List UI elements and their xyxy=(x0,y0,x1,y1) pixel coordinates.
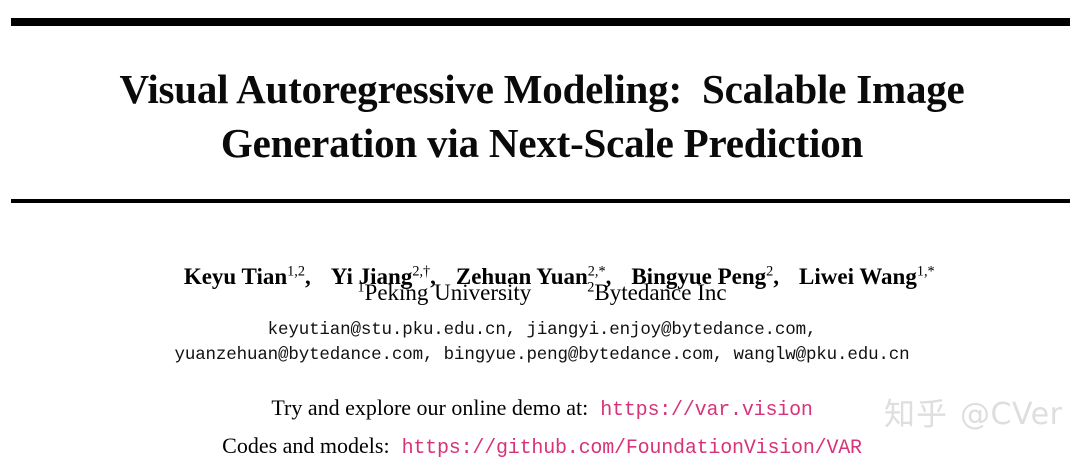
title-line-2: Generation via Next-Scale Prediction xyxy=(0,116,1084,170)
top-rule xyxy=(11,18,1070,26)
demo-link-label: Try and explore our online demo at: xyxy=(271,395,588,420)
code-link-label: Codes and models: xyxy=(222,433,389,458)
page-title: Visual Autoregressive Modeling: Scalable… xyxy=(0,62,1084,170)
affiliation-name: Peking University xyxy=(365,280,532,305)
author-affiliation-marker: 2,* xyxy=(588,263,606,279)
links-section: Try and explore our online demo at:https… xyxy=(0,390,1084,466)
affiliations-line: 1Peking University2Bytedance Inc xyxy=(0,278,1084,307)
author-affiliation-marker: 1,2 xyxy=(287,263,305,279)
title-divider-rule xyxy=(11,199,1070,203)
affiliation-list: 1Peking University2Bytedance Inc xyxy=(0,278,1084,307)
demo-link-line: Try and explore our online demo at:https… xyxy=(0,390,1084,428)
affiliation-marker: 1 xyxy=(357,279,364,295)
authors-line: Keyu Tian1,2,Yi Jiang2,†,Zehuan Yuan2,*,… xyxy=(0,232,1084,322)
paper-header-page: Visual Autoregressive Modeling: Scalable… xyxy=(0,0,1084,474)
email-line-1: keyutian@stu.pku.edu.cn, jiangyi.enjoy@b… xyxy=(0,318,1084,343)
author-affiliation-marker: 1,* xyxy=(917,263,935,279)
email-list: keyutian@stu.pku.edu.cn, jiangyi.enjoy@b… xyxy=(0,318,1084,368)
author-list: Keyu Tian1,2,Yi Jiang2,†,Zehuan Yuan2,*,… xyxy=(0,232,1084,322)
title-line-1: Visual Autoregressive Modeling: Scalable… xyxy=(0,62,1084,116)
email-line-2: yuanzehuan@bytedance.com, bingyue.peng@b… xyxy=(0,343,1084,368)
demo-link-url[interactable]: https://var.vision xyxy=(600,399,812,422)
affiliation-name: Bytedance Inc xyxy=(594,280,726,305)
author-affiliation-marker: 2,† xyxy=(412,263,430,279)
code-link-line: Codes and models:https://github.com/Foun… xyxy=(0,428,1084,466)
code-link-url[interactable]: https://github.com/FoundationVision/VAR xyxy=(402,437,862,460)
